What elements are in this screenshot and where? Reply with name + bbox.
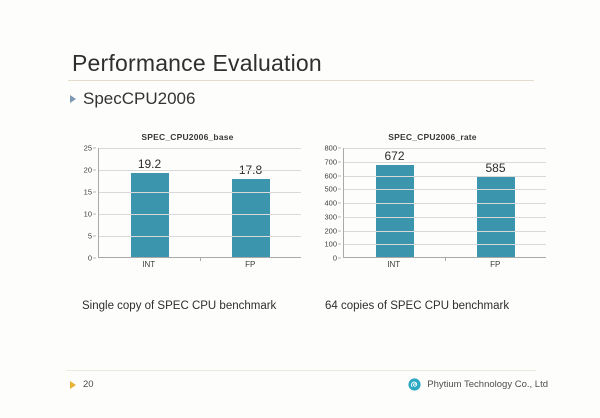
y-axis-tick-label: 300 [324, 212, 337, 221]
y-axis-tick-label: 5 [88, 232, 92, 241]
gridline [344, 176, 546, 177]
y-axis-tick-label: 200 [324, 226, 337, 235]
gridline [344, 203, 546, 204]
x-axis-tick-label: FP [445, 260, 547, 269]
y-axis-tick-label: 500 [324, 185, 337, 194]
y-axis-tick-label: 100 [324, 240, 337, 249]
y-axis-tick-mark [338, 175, 341, 176]
y-axis-tick-mark [93, 258, 96, 259]
y-axis-tick-mark [338, 161, 341, 162]
bar [376, 165, 414, 257]
chart-spec-cpu2006-base: SPEC_CPU2006_base 0510152025 19.217.8 IN… [70, 130, 305, 275]
y-axis-tick-mark [93, 214, 96, 215]
y-axis-tick-mark [93, 148, 96, 149]
x-axis-labels: INTFP [343, 260, 546, 269]
footer-page-indicator: 20 [70, 379, 94, 390]
gridline [99, 170, 301, 171]
y-axis-tick-label: 400 [324, 199, 337, 208]
y-axis-tick-mark [338, 230, 341, 231]
gridline [99, 236, 301, 237]
y-axis-tick-mark [93, 192, 96, 193]
gridline [344, 189, 546, 190]
gridline [99, 214, 301, 215]
plot-area-wrapper: 0510152025 19.217.8 INTFP [70, 148, 305, 270]
triangle-right-icon [70, 381, 76, 389]
y-axis-tick-mark [338, 189, 341, 190]
y-axis-tick-label: 0 [88, 254, 92, 263]
bar-value-label: 19.2 [138, 157, 161, 171]
gridline [344, 231, 546, 232]
plot-area: 19.217.8 [98, 148, 301, 258]
y-axis-tick-mark [338, 216, 341, 217]
phytium-spiral-logo-icon [408, 378, 421, 391]
footer-divider [66, 370, 536, 371]
y-axis-tick-mark [338, 148, 341, 149]
caption-right: 64 copies of SPEC CPU benchmark [325, 300, 509, 312]
plot-area-wrapper: 0100200300400500600700800 672585 INTFP [315, 148, 550, 270]
triangle-right-icon [70, 95, 76, 103]
x-axis-tick-label: INT [98, 260, 200, 269]
gridline [99, 148, 301, 149]
gridline [344, 217, 546, 218]
page-title: Performance Evaluation [72, 50, 322, 77]
bullet-label: SpecCPU2006 [83, 89, 195, 109]
y-axis: 0100200300400500600700800 [315, 148, 341, 258]
bar-series: 19.217.8 [99, 148, 301, 257]
bar-value-label: 672 [384, 149, 404, 163]
y-axis-tick-mark [338, 203, 341, 204]
chart-title: SPEC_CPU2006_rate [315, 130, 550, 142]
bar-slot: 17.8 [200, 148, 301, 257]
x-axis-tick-label: FP [200, 260, 302, 269]
footer-brand: Phytium Technology Co., Ltd [408, 378, 548, 391]
gridline [99, 192, 301, 193]
y-axis-tick-mark [338, 258, 341, 259]
y-axis: 0510152025 [70, 148, 96, 258]
slide-canvas: Performance Evaluation SpecCPU2006 SPEC_… [0, 0, 600, 418]
plot-area: 672585 [343, 148, 546, 258]
x-axis-labels: INTFP [98, 260, 301, 269]
y-axis-tick-label: 20 [84, 166, 92, 175]
y-axis-tick-label: 10 [84, 210, 92, 219]
y-axis-tick-label: 600 [324, 171, 337, 180]
gridline [344, 148, 546, 149]
y-axis-tick-mark [338, 244, 341, 245]
bullet-item-speccpu2006: SpecCPU2006 [70, 89, 195, 109]
y-axis-tick-label: 15 [84, 188, 92, 197]
title-divider [68, 80, 534, 81]
gridline [344, 244, 546, 245]
y-axis-tick-mark [93, 170, 96, 171]
y-axis-tick-label: 0 [333, 254, 337, 263]
x-axis-tick-mark [445, 258, 446, 261]
bar [232, 179, 270, 257]
caption-left: Single copy of SPEC CPU benchmark [82, 300, 276, 312]
gridline [344, 162, 546, 163]
brand-label: Phytium Technology Co., Ltd [427, 379, 548, 390]
x-axis-tick-label: INT [343, 260, 445, 269]
y-axis-tick-label: 700 [324, 157, 337, 166]
y-axis-tick-mark [93, 236, 96, 237]
y-axis-tick-label: 800 [324, 144, 337, 153]
page-number: 20 [83, 379, 94, 390]
x-axis-tick-mark [200, 258, 201, 261]
y-axis-tick-label: 25 [84, 144, 92, 153]
bar-slot: 19.2 [99, 148, 200, 257]
chart-spec-cpu2006-rate: SPEC_CPU2006_rate 0100200300400500600700… [315, 130, 550, 275]
chart-title: SPEC_CPU2006_base [70, 130, 305, 142]
